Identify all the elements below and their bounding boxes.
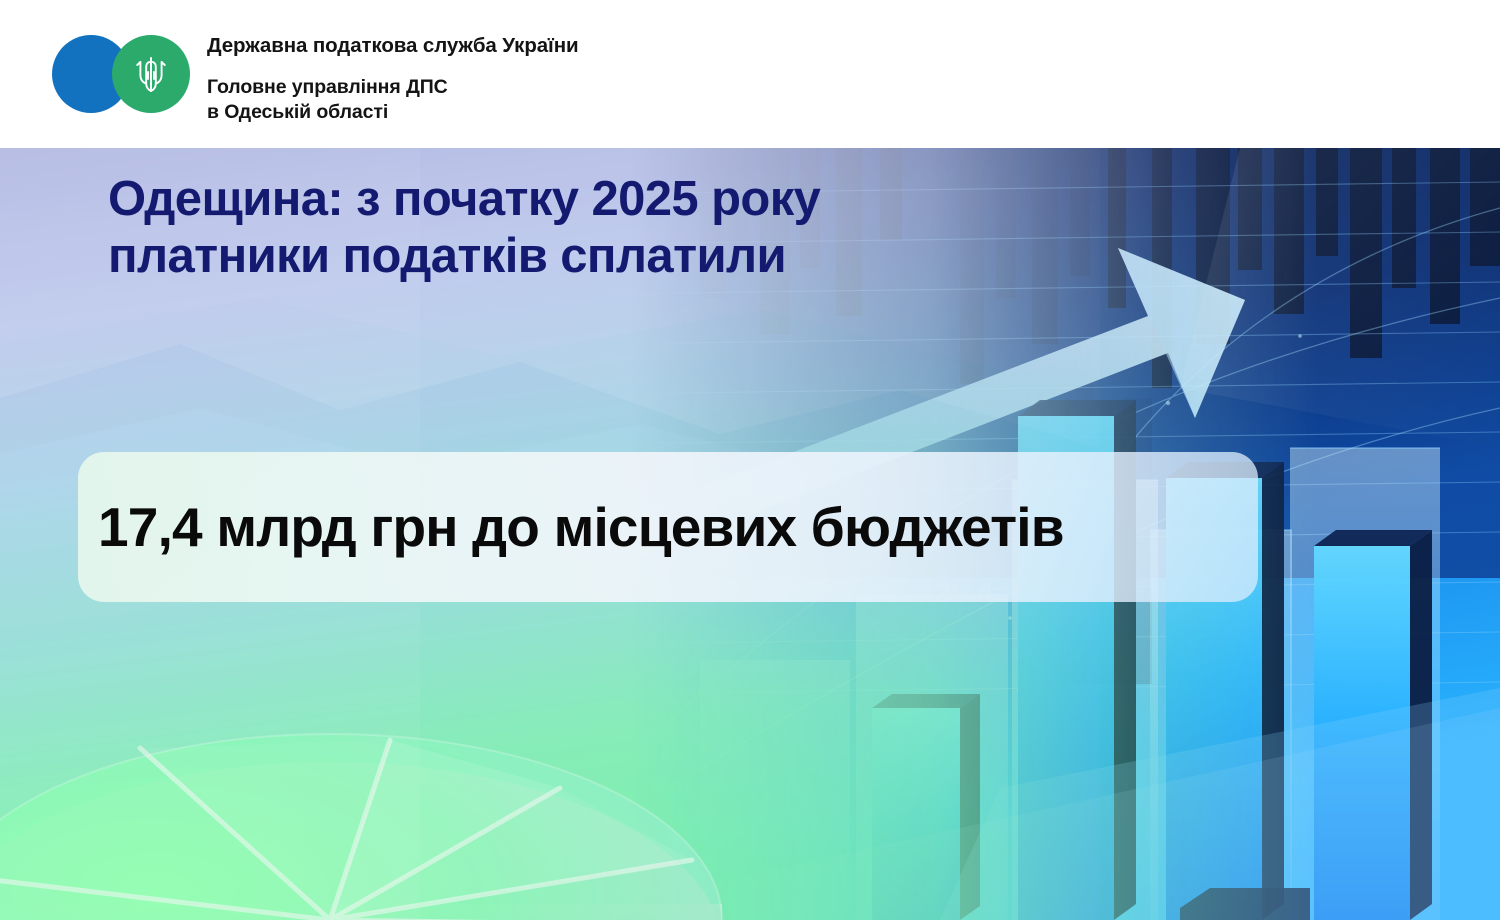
org-name: Державна податкова служба України <box>207 35 907 58</box>
header-text-block: Державна податкова служба України Головн… <box>207 35 907 124</box>
highlight-box: 17,4 млрд грн до місцевих бюджетів <box>78 452 1258 602</box>
poster-root: Державна податкова служба України Головн… <box>0 0 1500 920</box>
ukrainian-trident-icon <box>134 53 168 95</box>
highlight-amount-text: 17,4 млрд грн до місцевих бюджетів <box>78 500 1064 555</box>
header-bar: Державна податкова служба України Головн… <box>0 0 1500 148</box>
org-unit: Головне управління ДПС в Одеській област… <box>207 75 907 125</box>
logo-green-circle-icon <box>112 35 190 113</box>
headline: Одещина: з початку 2025 року платники по… <box>108 171 1118 285</box>
dps-logo <box>52 35 192 115</box>
